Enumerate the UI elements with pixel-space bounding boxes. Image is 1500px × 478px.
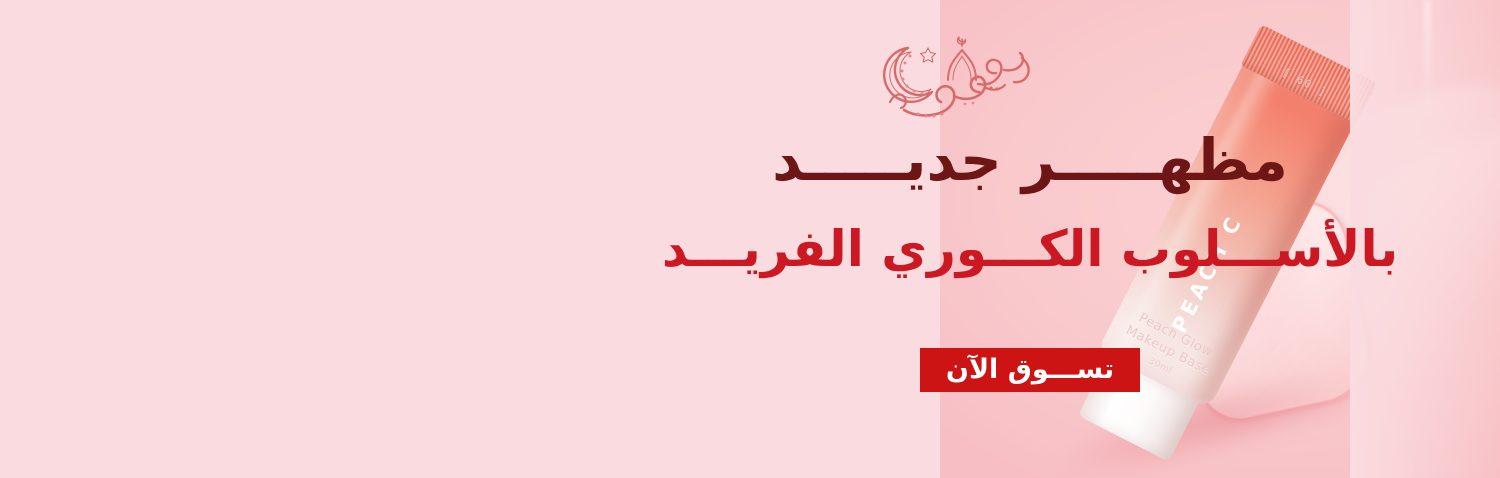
- eid-saeed-calligraphy-icon: [870, 18, 1040, 123]
- banner-content: مظهـــــر جديـــــد بالأســـلوب الكـــور…: [560, 0, 1500, 478]
- subtitle: بالأســـلوب الكـــوري الفريـــد: [560, 218, 1500, 280]
- shop-now-button[interactable]: تســـوق الآن: [920, 348, 1140, 392]
- cta-row: تســـوق الآن: [560, 348, 1500, 392]
- page-title: مظهـــــر جديـــــد: [560, 126, 1500, 194]
- promo-banner: PEACH C Peach Glow Makeup Base 30ml [ 60…: [0, 0, 1500, 478]
